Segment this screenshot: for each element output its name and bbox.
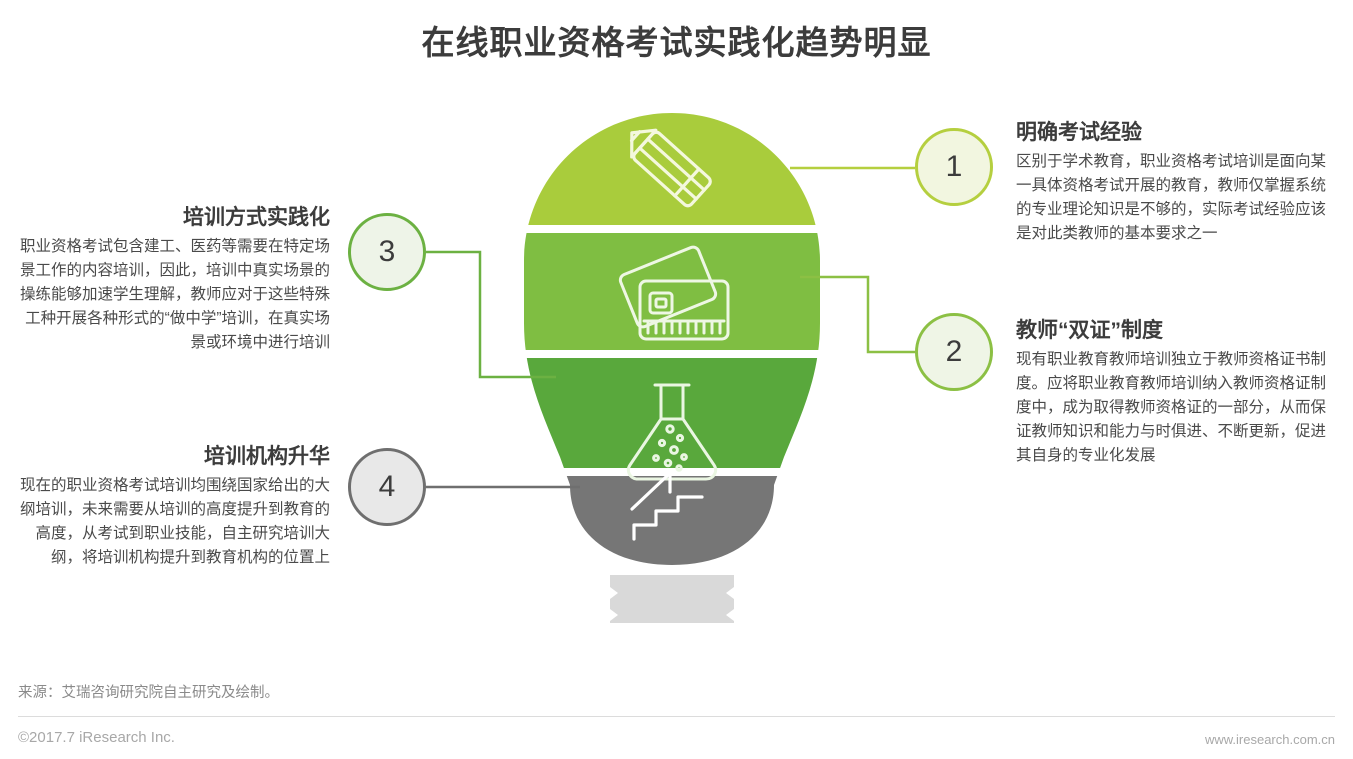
block-1-heading: 明确考试经验 <box>1016 120 1336 146</box>
infographic-page: 在线职业资格考试实践化趋势明显 <box>0 0 1353 759</box>
bulb-screw-base-icon <box>610 575 734 623</box>
bulb-band-4 <box>522 476 822 586</box>
block-3-heading: 培训方式实践化 <box>10 205 330 231</box>
block-3-body: 职业资格考试包含建工、医药等需要在特定场景工作的内容培训，因此，培训中真实场景的… <box>10 235 330 355</box>
lightbulb-diagram <box>522 113 822 623</box>
content-block-2: 教师“双证”制度 现有职业教育教师培训独立于教师资格证书制度。应将职业教育教师培… <box>1016 318 1336 468</box>
step-number-4: 4 <box>379 470 396 504</box>
step-circle-2[interactable]: 2 <box>915 313 993 391</box>
step-circle-4[interactable]: 4 <box>348 448 426 526</box>
block-4-heading: 培训机构升华 <box>10 444 330 470</box>
block-2-heading: 教师“双证”制度 <box>1016 318 1336 344</box>
step-number-3: 3 <box>379 235 396 269</box>
step-circle-1[interactable]: 1 <box>915 128 993 206</box>
block-2-body: 现有职业教育教师培训独立于教师资格证书制度。应将职业教育教师培训纳入教师资格证制… <box>1016 348 1336 468</box>
website-url[interactable]: www.iresearch.com.cn <box>1205 732 1335 747</box>
block-1-body: 区别于学术教育，职业资格考试培训是面向某一具体资格考试开展的教育，教师仅掌握系统… <box>1016 150 1336 246</box>
source-note: 来源：艾瑞咨询研究院自主研究及绘制。 <box>18 681 279 702</box>
step-number-2: 2 <box>946 335 963 369</box>
copyright-text: ©2017.7 iResearch Inc. <box>18 729 175 746</box>
content-block-3: 培训方式实践化 职业资格考试包含建工、医药等需要在特定场景工作的内容培训，因此，… <box>10 205 330 355</box>
block-4-body: 现在的职业资格考试培训均围绕国家给出的大纲培训，未来需要从培训的高度提升到教育的… <box>10 474 330 570</box>
content-block-4: 培训机构升华 现在的职业资格考试培训均围绕国家给出的大纲培训，未来需要从培训的高… <box>10 444 330 570</box>
content-block-1: 明确考试经验 区别于学术教育，职业资格考试培训是面向某一具体资格考试开展的教育，… <box>1016 120 1336 246</box>
step-circle-3[interactable]: 3 <box>348 213 426 291</box>
page-title: 在线职业资格考试实践化趋势明显 <box>0 16 1353 64</box>
footer-divider <box>18 716 1335 717</box>
bulb-band-1 <box>522 113 822 225</box>
step-number-1: 1 <box>946 150 963 184</box>
